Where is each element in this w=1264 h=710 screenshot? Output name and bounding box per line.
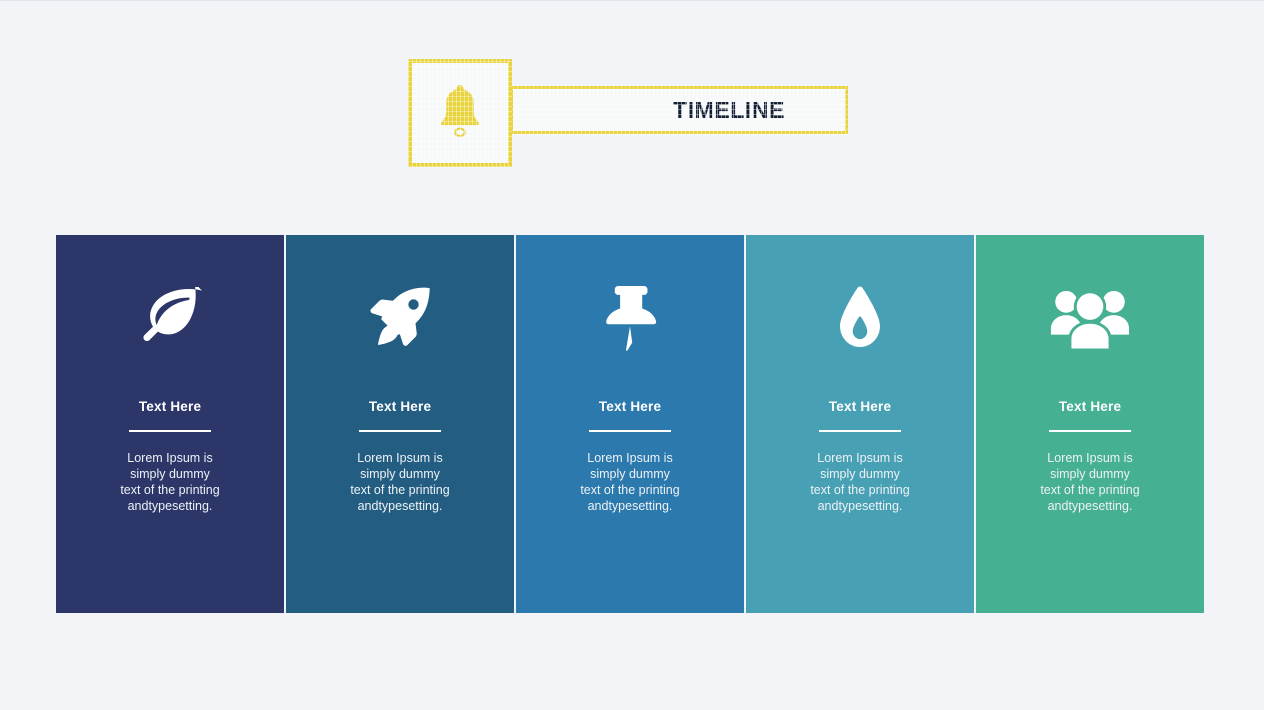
rocket-icon bbox=[360, 283, 440, 353]
column-title: Text Here bbox=[599, 399, 661, 414]
timeline-column-4[interactable]: Text Here Lorem Ipsum is simply dummy te… bbox=[746, 235, 974, 613]
timeline-header: TIMELINE bbox=[408, 59, 848, 167]
timeline-column-2[interactable]: Text Here Lorem Ipsum is simply dummy te… bbox=[286, 235, 514, 613]
column-divider bbox=[589, 430, 671, 432]
column-body: Lorem Ipsum is simply dummy text of the … bbox=[580, 450, 680, 514]
timeline-column-1[interactable]: Text Here Lorem Ipsum is simply dummy te… bbox=[56, 235, 284, 613]
header-icon-frame bbox=[408, 59, 512, 167]
timeline-column-5[interactable]: Text Here Lorem Ipsum is simply dummy te… bbox=[976, 235, 1204, 613]
bell-icon bbox=[436, 82, 484, 145]
column-divider bbox=[359, 430, 441, 432]
column-divider bbox=[1049, 430, 1131, 432]
timeline-columns: Text Here Lorem Ipsum is simply dummy te… bbox=[56, 235, 1204, 613]
header-title-frame: TIMELINE bbox=[510, 86, 848, 134]
column-body: Lorem Ipsum is simply dummy text of the … bbox=[120, 450, 220, 514]
page-title: TIMELINE bbox=[573, 97, 785, 124]
pushpin-icon bbox=[590, 283, 670, 353]
column-divider bbox=[129, 430, 211, 432]
column-title: Text Here bbox=[829, 399, 891, 414]
column-body: Lorem Ipsum is simply dummy text of the … bbox=[1040, 450, 1140, 514]
column-title: Text Here bbox=[139, 399, 201, 414]
column-title: Text Here bbox=[369, 399, 431, 414]
users-group-icon bbox=[1050, 283, 1130, 353]
column-body: Lorem Ipsum is simply dummy text of the … bbox=[350, 450, 450, 514]
water-drop-icon bbox=[820, 283, 900, 353]
leaf-icon bbox=[130, 283, 210, 353]
column-body: Lorem Ipsum is simply dummy text of the … bbox=[810, 450, 910, 514]
timeline-column-3[interactable]: Text Here Lorem Ipsum is simply dummy te… bbox=[516, 235, 744, 613]
column-divider bbox=[819, 430, 901, 432]
column-title: Text Here bbox=[1059, 399, 1121, 414]
